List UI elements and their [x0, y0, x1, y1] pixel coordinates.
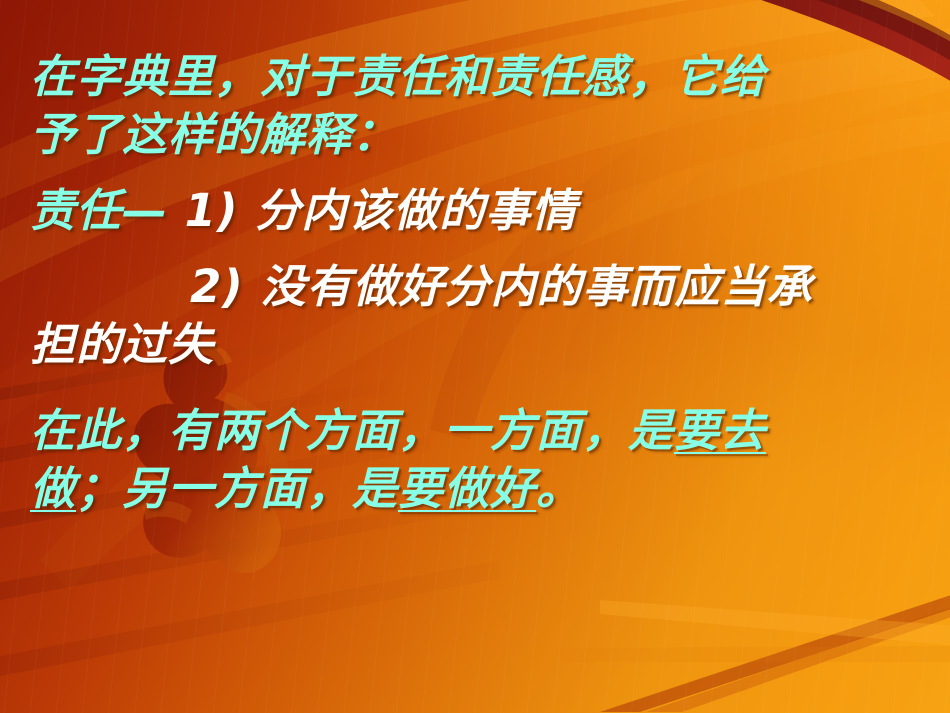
conclusion-emphasis-2: 做 — [30, 462, 76, 515]
paragraph-intro-line-2: 予了这样的解释： — [30, 106, 924, 164]
definition-1-text: 1) 分内该做的事情 — [185, 184, 578, 237]
definition-2-text-a: 2) 没有做好分内的事而应当承 — [190, 260, 813, 313]
slide-text-content: 在字典里，对于责任和责任感，它给 予了这样的解释： 责任— 1) 分内该做的事情… — [0, 0, 950, 713]
paragraph-intro-line-1: 在字典里，对于责任和责任感，它给 — [30, 48, 924, 106]
definition-term-label: 责任— — [30, 184, 185, 237]
paragraph-conclusion-line-1: 在此，有两个方面，一方面，是要去 — [30, 402, 924, 460]
paragraph-definition-2-line-2: 担的过失 — [30, 316, 924, 374]
conclusion-period: 。 — [536, 462, 582, 515]
conclusion-emphasis-1: 要去 — [674, 404, 766, 457]
paragraph-definition-2-line-1: 2) 没有做好分内的事而应当承 — [30, 258, 924, 316]
paragraph-conclusion-line-2: 做；另一方面，是要做好。 — [30, 460, 924, 518]
paragraph-definition-1: 责任— 1) 分内该做的事情 — [30, 182, 924, 240]
presentation-slide: 在字典里，对于责任和责任感，它给 予了这样的解释： 责任— 1) 分内该做的事情… — [0, 0, 950, 713]
conclusion-emphasis-3: 要做好 — [398, 462, 536, 515]
conclusion-text-a: 在此，有两个方面，一方面，是 — [30, 404, 674, 457]
conclusion-text-b: ；另一方面，是 — [76, 462, 398, 515]
